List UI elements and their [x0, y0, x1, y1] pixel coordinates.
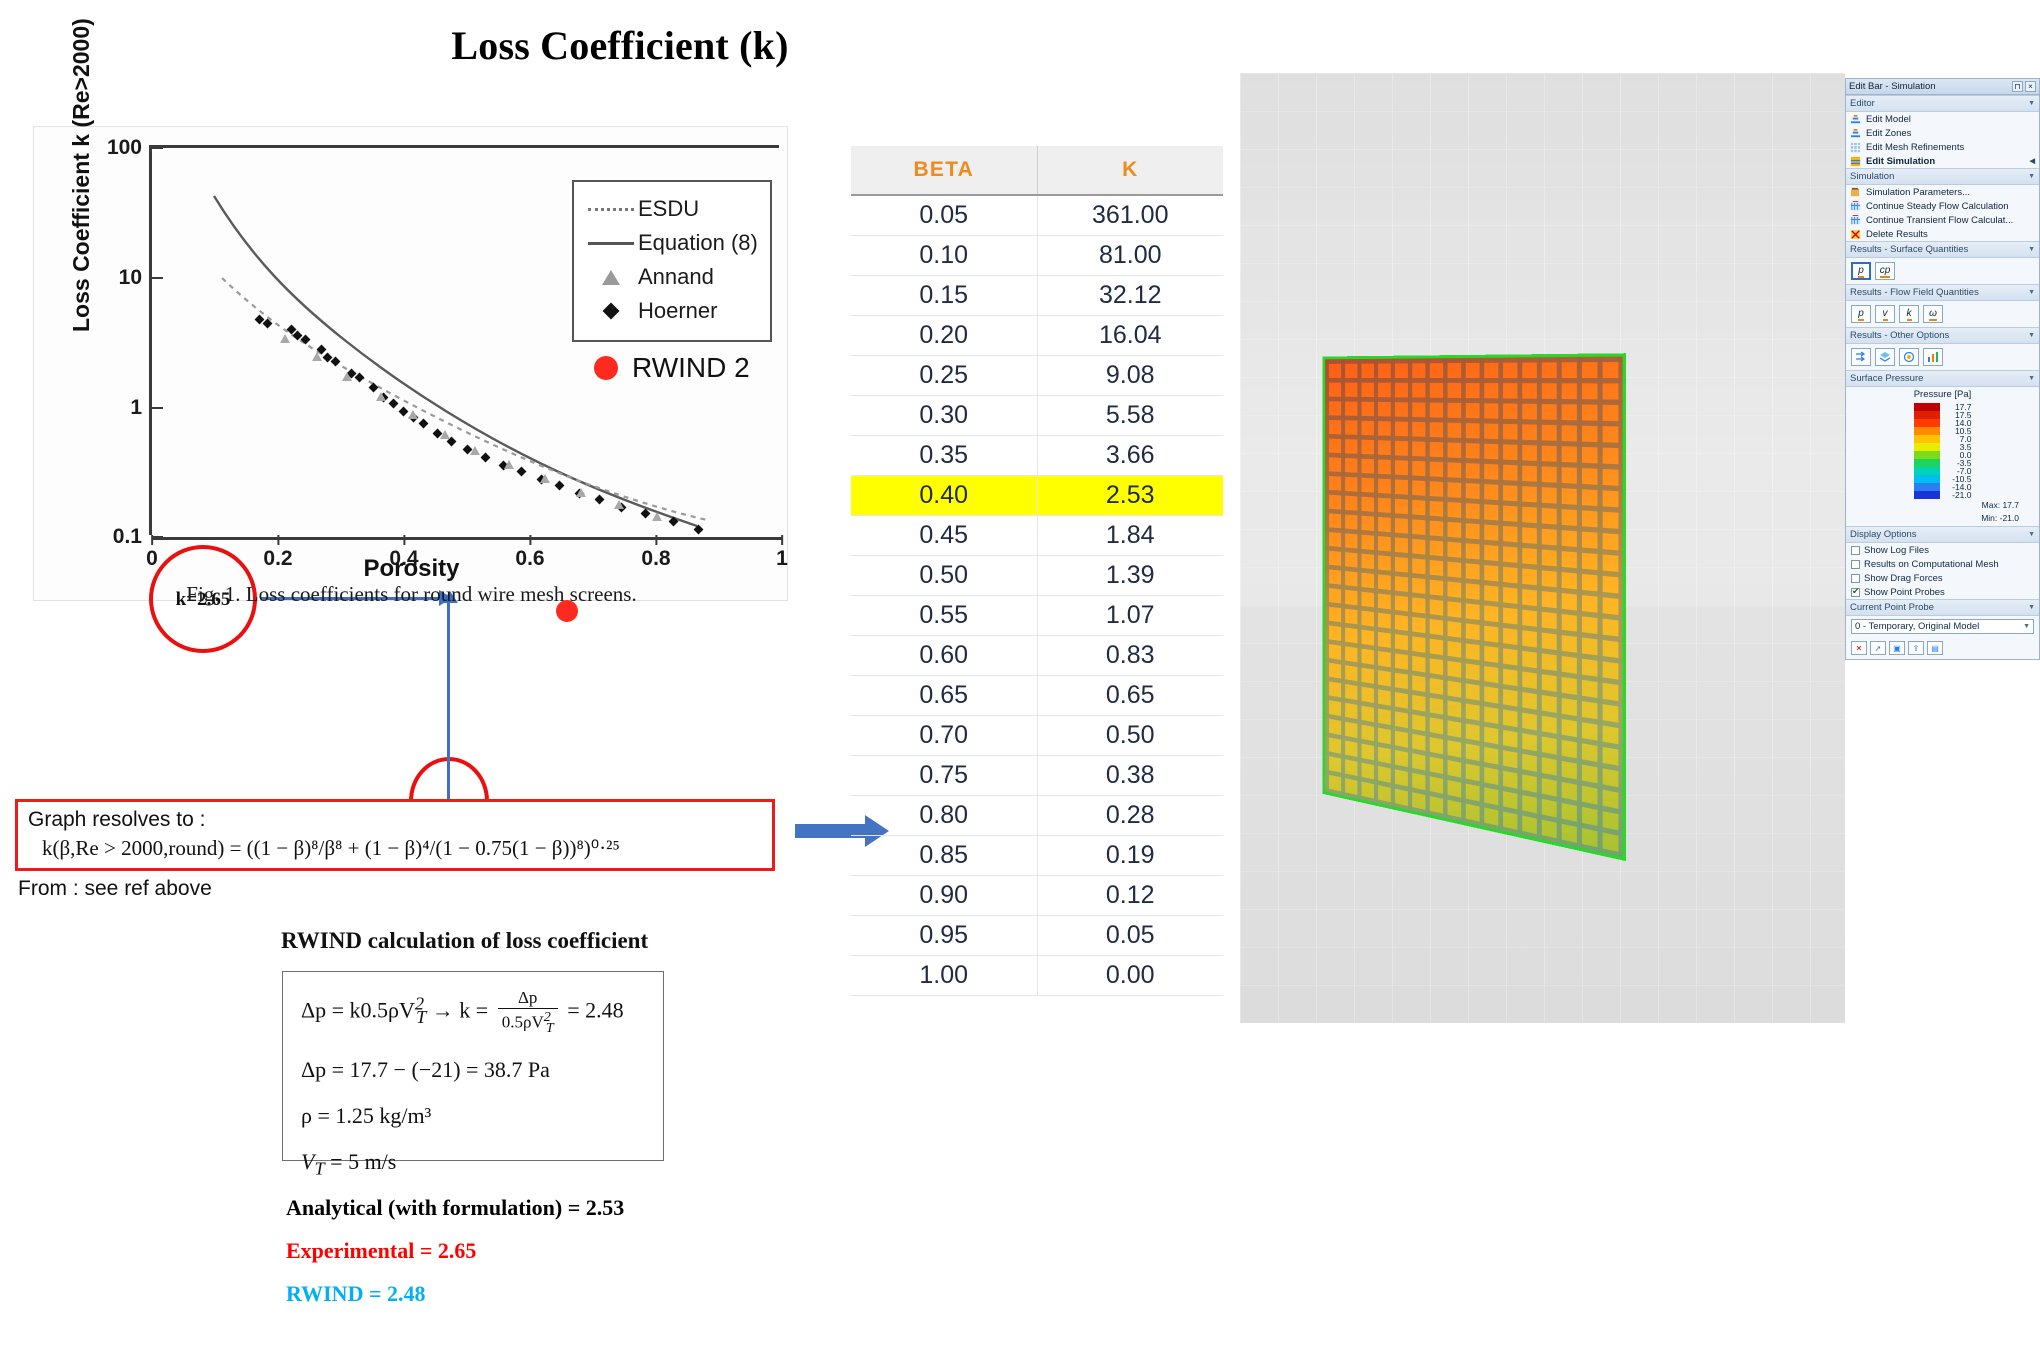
group-header-display-options[interactable]: Display Options ▼ [1846, 526, 2039, 543]
pressure-max-row: Max: 17.7 [1846, 499, 2039, 513]
cell-k: 0.50 [1037, 716, 1223, 756]
legend-item-equation8: Equation (8) [584, 226, 758, 260]
cell-k: 0.19 [1037, 836, 1223, 876]
cell-k: 3.66 [1037, 436, 1223, 476]
table-row[interactable]: 0.900.12 [851, 876, 1223, 916]
cell-beta: 0.85 [851, 836, 1037, 876]
flow-quantity-buttons: p v k ω [1846, 301, 2039, 327]
table-row[interactable]: 0.1532.12 [851, 276, 1223, 316]
table-row[interactable]: 0.353.66 [851, 436, 1223, 476]
cp-button[interactable]: cp [1875, 262, 1895, 280]
table-row[interactable]: 0.451.84 [851, 516, 1223, 556]
result-rwind: RWIND = 2.48 [286, 1281, 426, 1307]
table-row[interactable]: 0.950.05 [851, 916, 1223, 956]
cell-k: 81.00 [1037, 236, 1223, 276]
table-row[interactable]: 0.600.83 [851, 636, 1223, 676]
delete-results-icon [1850, 229, 1861, 240]
menu-item-label: Edit Zones [1866, 128, 1911, 139]
menu-item-label: Delete Results [1866, 229, 1928, 240]
cell-beta: 0.10 [851, 236, 1037, 276]
chart-legend: ESDU Equation (8) Annand Hoerner [572, 180, 772, 342]
cell-beta: 0.95 [851, 916, 1037, 956]
chevron-down-icon[interactable]: ▼ [2028, 289, 2035, 296]
checkbox[interactable] [1851, 588, 1860, 597]
rwind2-legend-label: RWIND 2 [632, 352, 750, 384]
red-dot-icon [594, 356, 618, 380]
cell-k: 1.39 [1037, 556, 1223, 596]
cell-beta: 0.40 [851, 476, 1037, 516]
group-label-surface-pressure: Surface Pressure [1850, 373, 1923, 384]
menu-item-simulation-parameters[interactable]: Simulation Parameters... [1846, 185, 2039, 199]
display-option-label: Results on Computational Mesh [1864, 559, 1999, 570]
cell-beta: 0.25 [851, 356, 1037, 396]
pin-icon[interactable]: ⊓ [2012, 81, 2023, 92]
flow-k-button[interactable]: k [1899, 305, 1919, 323]
mesh-screen-result[interactable] [1323, 353, 1626, 861]
menu-item-edit-model[interactable]: Edit Model [1846, 112, 2039, 126]
menu-item-edit-zones[interactable]: Edit Zones [1846, 126, 2039, 140]
legend-label-hoerner: Hoerner [638, 298, 717, 324]
chevron-down-icon[interactable]: ▼ [2028, 332, 2035, 339]
cell-beta: 0.30 [851, 396, 1037, 436]
group-header-surface-quantities[interactable]: Results - Surface Quantities ▼ [1846, 241, 2039, 258]
chevron-down-icon[interactable]: ▼ [2023, 623, 2030, 630]
point-probe-select[interactable]: 0 - Temporary, Original Model ▼ [1851, 619, 2034, 634]
display-option-label: Show Log Files [1864, 545, 1929, 556]
column-header-beta[interactable]: BETA [851, 146, 1037, 195]
pressure-swatch [1914, 451, 1940, 459]
cell-k: 5.58 [1037, 396, 1223, 436]
cell-beta: 1.00 [851, 956, 1037, 996]
display-option-results-on-computational-mesh[interactable]: Results on Computational Mesh [1846, 557, 2039, 571]
transient-flow-icon [1850, 215, 1861, 226]
legend-item-hoerner: Hoerner [584, 294, 758, 328]
legend-label-equation8: Equation (8) [638, 230, 758, 256]
other-option-buttons [1846, 344, 2039, 370]
eq1-result: = 2.48 [567, 998, 623, 1023]
group-header-simulation[interactable]: Simulation ▼ [1846, 168, 2039, 185]
table-row[interactable]: 0.2016.04 [851, 316, 1223, 356]
group-label-display-options: Display Options [1850, 529, 1917, 540]
beta-k-table: BETA K 0.05361.000.1081.000.1532.120.201… [851, 146, 1223, 996]
formula-source-note: From : see ref above [18, 877, 212, 901]
legend-label-esdu: ESDU [638, 196, 699, 222]
group-label-editor: Editor [1850, 98, 1875, 109]
chevron-down-icon[interactable]: ▼ [2028, 375, 2035, 382]
edit-simulation-icon [1850, 156, 1861, 167]
display-option-show-drag-forces[interactable]: Show Drag Forces [1846, 571, 2039, 585]
pressure-swatch [1914, 435, 1940, 443]
cell-k: 0.12 [1037, 876, 1223, 916]
pressure-button[interactable]: p [1851, 262, 1871, 280]
flow-omega-button[interactable]: ω [1923, 305, 1943, 323]
pressure-legend-title: Pressure [Pa] [1846, 387, 2039, 401]
edit-bar-title: Edit Bar - Simulation [1849, 81, 1936, 92]
pressure-swatch [1914, 483, 1940, 491]
table-row[interactable]: 0.700.50 [851, 716, 1223, 756]
table-row[interactable]: 1.000.00 [851, 956, 1223, 996]
eq1-middle: → k = [432, 998, 488, 1023]
flow-velocity-button[interactable]: v [1875, 305, 1895, 323]
rwind-calc-title: RWIND calculation of loss coefficient [281, 928, 648, 954]
legend-item-annand: Annand [584, 260, 758, 294]
group-header-surface-pressure[interactable]: Surface Pressure ▼ [1846, 370, 2039, 387]
chart-x-axis-label: Porosity [34, 555, 789, 583]
pressure-swatch [1914, 475, 1940, 483]
cell-k: 32.12 [1037, 276, 1223, 316]
max-label: Max: [1982, 500, 2000, 510]
cell-k: 0.28 [1037, 796, 1223, 836]
cell-beta: 0.50 [851, 556, 1037, 596]
menu-item-label: Simulation Parameters... [1866, 187, 1970, 198]
mesh-grid-icon [1850, 142, 1861, 153]
pressure-swatch [1914, 443, 1940, 451]
formula-intro-text: Graph resolves to : [28, 808, 762, 832]
steady-flow-icon [1850, 201, 1861, 212]
eq1-fraction: Δp 0.5ρV2T [498, 988, 558, 1037]
legend-item-esdu: ESDU [584, 192, 758, 226]
table-icon[interactable]: ▤ [1927, 641, 1943, 655]
page-title: Loss Coefficient (k) [0, 22, 1240, 69]
checkbox[interactable] [1851, 560, 1860, 569]
menu-item-label: Edit Model [1866, 114, 1911, 125]
menu-item-edit-mesh-refinements[interactable]: Edit Mesh Refinements [1846, 140, 2039, 154]
table-row[interactable]: 0.551.07 [851, 596, 1223, 636]
edit-bar-window-buttons: ⊓ × [2012, 81, 2036, 92]
equation-density: ρ = 1.25 kg/m³ [301, 1103, 645, 1129]
equation-delta-p: Δp = 17.7 − (−21) = 38.7 Pa [301, 1057, 645, 1083]
resolved-formula-box: Graph resolves to : k(β,Re > 2000,round)… [15, 799, 775, 871]
point-probe-selected-value: 0 - Temporary, Original Model [1855, 621, 1979, 632]
cell-k: 0.65 [1037, 676, 1223, 716]
cell-beta: 0.70 [851, 716, 1037, 756]
menu-item-label: Continue Transient Flow Calculat... [1866, 215, 2013, 226]
edit-bar-panel[interactable]: Edit Bar - Simulation ⊓ × Editor ▼ Edit … [1845, 78, 2040, 660]
cell-k: 0.38 [1037, 756, 1223, 796]
rwind-calc-box: Δp = k0.5ρV2T → k = Δp 0.5ρV2T = 2.48 Δp… [282, 971, 664, 1161]
rwind2-legend-entry: RWIND 2 [594, 352, 750, 384]
group-label-simulation: Simulation [1850, 171, 1894, 182]
group-header-editor[interactable]: Editor ▼ [1846, 95, 2039, 112]
chart-icon[interactable] [1923, 348, 1943, 366]
display-options-list: Show Log FilesResults on Computational M… [1846, 543, 2039, 599]
table-row[interactable]: 0.800.28 [851, 796, 1223, 836]
pressure-scale-value: -21.0 [1946, 490, 1972, 500]
menu-item-delete-results[interactable]: Delete Results [1846, 227, 2039, 241]
menu-item-continue-transient-flow-calculat[interactable]: Continue Transient Flow Calculat... [1846, 213, 2039, 227]
table-row[interactable]: 0.305.58 [851, 396, 1223, 436]
eq1-left: Δp = k0.5ρV [301, 998, 415, 1023]
checkbox[interactable] [1851, 574, 1860, 583]
cell-beta: 0.65 [851, 676, 1037, 716]
table-body: 0.05361.000.1081.000.1532.120.2016.040.2… [851, 195, 1223, 996]
close-icon[interactable]: × [2025, 81, 2036, 92]
chevron-down-icon[interactable]: ▼ [2028, 604, 2035, 611]
menu-item-label: Continue Steady Flow Calculation [1866, 201, 2009, 212]
simulation-3d-viewport[interactable] [1240, 73, 1845, 1023]
table-row[interactable]: 0.259.08 [851, 356, 1223, 396]
dotted-line-icon [584, 208, 638, 211]
cell-k: 361.00 [1037, 195, 1223, 236]
loss-coefficient-figure: Loss Coefficient k (Re>2000) 100 10 1 0.… [33, 126, 788, 601]
pick-icon[interactable]: ➚ [1870, 641, 1886, 655]
group-header-point-probe[interactable]: Current Point Probe ▼ [1846, 599, 2039, 616]
cell-beta: 0.80 [851, 796, 1037, 836]
display-option-label: Show Drag Forces [1864, 573, 1943, 584]
group-label-surface-quantities: Results - Surface Quantities [1850, 244, 1968, 255]
solid-line-icon [584, 242, 638, 245]
menu-item-edit-simulation[interactable]: Edit Simulation◀ [1846, 154, 2039, 168]
min-value: -21.0 [2000, 513, 2019, 523]
menu-item-continue-steady-flow-calculation[interactable]: Continue Steady Flow Calculation [1846, 199, 2039, 213]
cell-k: 9.08 [1037, 356, 1223, 396]
arrows-icon[interactable] [1851, 348, 1871, 366]
chart-plot-area: 100 10 1 0.1 0 0.2 0.4 0.6 0.8 1 [149, 145, 779, 535]
cell-k: 1.07 [1037, 596, 1223, 636]
result-experimental: Experimental = 2.65 [286, 1238, 476, 1264]
slide-root: Loss Coefficient (k) Loss Coefficient k … [0, 0, 2040, 1353]
group-label-other-options: Results - Other Options [1850, 330, 1949, 341]
table-row[interactable]: 0.1081.00 [851, 236, 1223, 276]
display-option-show-point-probes[interactable]: Show Point Probes [1846, 585, 2039, 599]
table-header-row: BETA K [851, 146, 1223, 195]
editor-menu-items: Edit ModelEdit ZonesEdit Mesh Refinement… [1846, 112, 2039, 168]
cell-k: 2.53 [1037, 476, 1223, 516]
y-tick-1: 1 [130, 396, 152, 420]
menu-item-label: Edit Simulation [1866, 156, 1935, 167]
pressure-swatch [1914, 427, 1940, 435]
y-tick-100: 100 [107, 136, 152, 160]
cell-beta: 0.05 [851, 195, 1037, 236]
min-label: Min: [1981, 513, 1997, 523]
legend-label-annand: Annand [638, 264, 714, 290]
pressure-color-scale: 17.717.514.010.57.03.50.0-3.5-7.0-10.5-1… [1846, 401, 2039, 499]
group-label-point-probe: Current Point Probe [1850, 602, 1934, 613]
chevron-down-icon[interactable]: ▼ [2028, 531, 2035, 538]
pressure-swatch [1914, 459, 1940, 467]
edit-model-icon [1850, 114, 1861, 125]
group-label-flow-quantities: Results - Flow Field Quantities [1850, 287, 1979, 298]
display-option-show-log-files[interactable]: Show Log Files [1846, 543, 2039, 557]
pressure-swatch [1914, 491, 1940, 499]
chart-y-axis-label: Loss Coefficient k (Re>2000) [68, 18, 95, 332]
diamond-marker-icon [584, 305, 638, 317]
table-row[interactable]: 0.650.65 [851, 676, 1223, 716]
table-row[interactable]: 0.850.19 [851, 836, 1223, 876]
cell-k: 1.84 [1037, 516, 1223, 556]
callout-arrow-vertical [447, 599, 450, 799]
save-icon[interactable]: ▣ [1889, 641, 1905, 655]
y-tick-10: 10 [119, 266, 152, 290]
layers-icon[interactable] [1875, 348, 1895, 366]
pressure-swatch [1914, 403, 1940, 411]
parameters-icon [1850, 187, 1861, 198]
equation-k-definition: Δp = k0.5ρV2T → k = Δp 0.5ρV2T = 2.48 [301, 988, 645, 1037]
result-analytical: Analytical (with formulation) = 2.53 [286, 1195, 624, 1221]
cell-beta: 0.45 [851, 516, 1037, 556]
column-header-k[interactable]: K [1037, 146, 1223, 195]
chevron-left-icon[interactable]: ◀ [2030, 157, 2035, 165]
edit-zones-icon [1850, 128, 1861, 139]
cell-beta: 0.35 [851, 436, 1037, 476]
edit-bar-titlebar: Edit Bar - Simulation ⊓ × [1846, 79, 2039, 95]
cell-beta: 0.75 [851, 756, 1037, 796]
max-value: 17.7 [2002, 500, 2019, 510]
pressure-swatch [1914, 419, 1940, 427]
flow-pressure-button[interactable]: p [1851, 305, 1871, 323]
cell-beta: 0.60 [851, 636, 1037, 676]
eq1-denominator: 0.5ρV2T [498, 1009, 558, 1037]
group-header-flow-quantities[interactable]: Results - Flow Field Quantities ▼ [1846, 284, 2039, 301]
equation-velocity: VT = 5 m/s [301, 1149, 645, 1179]
triangle-marker-icon [584, 270, 638, 285]
chevron-down-icon[interactable]: ▼ [2028, 173, 2035, 180]
formula-expression: k(β,Re > 2000,round) = ((1 − β)⁸/β⁸ + (1… [42, 836, 762, 861]
iso-icon[interactable] [1899, 348, 1919, 366]
cell-k: 0.83 [1037, 636, 1223, 676]
cell-beta: 0.55 [851, 596, 1037, 636]
table-row[interactable]: 0.501.39 [851, 556, 1223, 596]
eq1-numerator: Δp [498, 988, 558, 1009]
display-option-label: Show Point Probes [1864, 587, 1945, 598]
chevron-down-icon[interactable]: ▼ [2028, 100, 2035, 107]
cell-k: 16.04 [1037, 316, 1223, 356]
pressure-swatch [1914, 411, 1940, 419]
group-header-other-options[interactable]: Results - Other Options ▼ [1846, 327, 2039, 344]
pressure-min-row: Min: -21.0 [1846, 513, 2039, 526]
simulation-menu-items: Simulation Parameters...Continue Steady … [1846, 185, 2039, 241]
figure-caption: Fig. 1. Loss coefficients for round wire… [34, 582, 789, 607]
close-icon[interactable]: ✕ [1851, 641, 1867, 655]
table-row[interactable]: 0.750.38 [851, 756, 1223, 796]
chevron-down-icon[interactable]: ▼ [2028, 246, 2035, 253]
export-icon[interactable]: ⇪ [1908, 641, 1924, 655]
checkbox[interactable] [1851, 546, 1860, 555]
menu-item-label: Edit Mesh Refinements [1866, 142, 1964, 153]
cell-k: 0.05 [1037, 916, 1223, 956]
table-row[interactable]: 0.05361.00 [851, 195, 1223, 236]
pressure-contour-overlay [1325, 357, 1623, 858]
cell-k: 0.00 [1037, 956, 1223, 996]
surface-quantity-buttons: p cp [1846, 258, 2039, 284]
cell-beta: 0.20 [851, 316, 1037, 356]
table-row[interactable]: 0.402.53 [851, 476, 1223, 516]
pressure-swatch [1914, 467, 1940, 475]
cell-beta: 0.90 [851, 876, 1037, 916]
cell-beta: 0.15 [851, 276, 1037, 316]
pressure-scale-row: -21.0 [1914, 491, 1972, 499]
point-probe-toolbar: ✕ ➚ ▣ ⇪ ▤ [1846, 637, 2039, 659]
